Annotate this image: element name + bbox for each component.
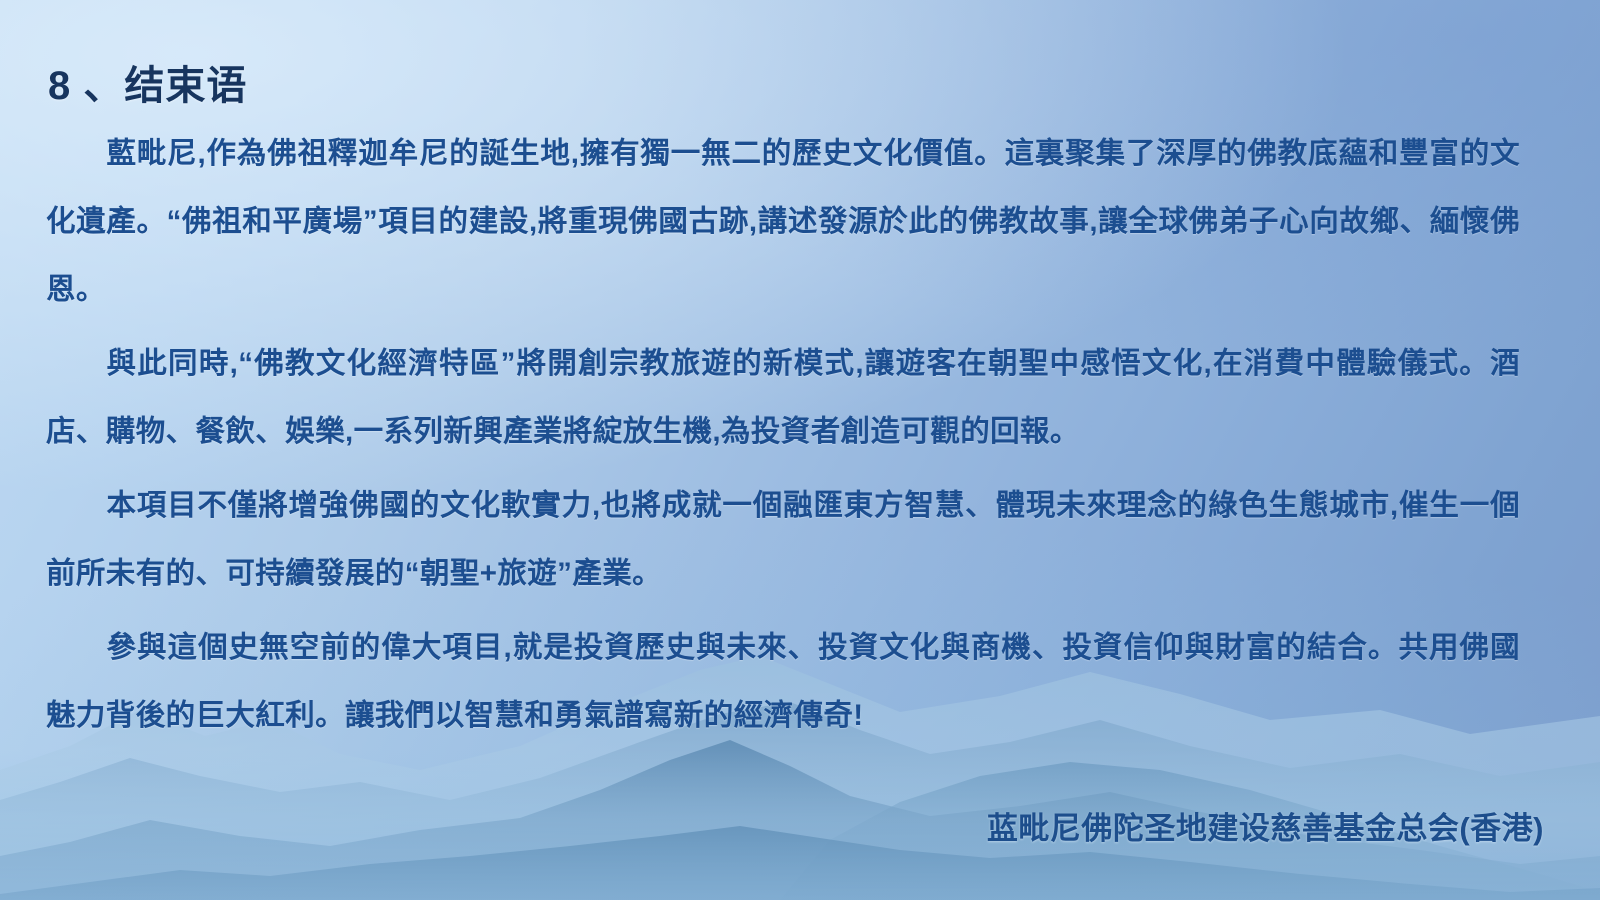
paragraph-4: 參與這個史無空前的偉大項目,就是投資歷史與未來、投資文化與商機、投資信仰與財富的… (46, 614, 1520, 750)
paragraph-3: 本項目不僅將增強佛國的文化軟實力,也將成就一個融匯東方智慧、體現未來理念的綠色生… (46, 472, 1520, 608)
footer-organization: 蓝毗尼佛陀圣地建设慈善基金总会(香港) (987, 803, 1544, 848)
paragraph-2: 與此同時,“佛教文化經濟特區”將開創宗教旅遊的新模式,讓遊客在朝聖中感悟文化,在… (46, 330, 1520, 466)
slide-root: 8 、结束语 藍毗尼,作為佛祖釋迦牟尼的誕生地,擁有獨一無二的歷史文化價值。這裏… (0, 0, 1600, 900)
body-copy: 藍毗尼,作為佛祖釋迦牟尼的誕生地,擁有獨一無二的歷史文化價值。這裏聚集了深厚的佛… (46, 120, 1520, 756)
paragraph-1: 藍毗尼,作為佛祖釋迦牟尼的誕生地,擁有獨一無二的歷史文化價值。這裏聚集了深厚的佛… (46, 120, 1520, 324)
slide-content: 8 、结束语 藍毗尼,作為佛祖釋迦牟尼的誕生地,擁有獨一無二的歷史文化價值。這裏… (0, 0, 1600, 900)
page-title: 8 、结束语 (48, 53, 247, 111)
